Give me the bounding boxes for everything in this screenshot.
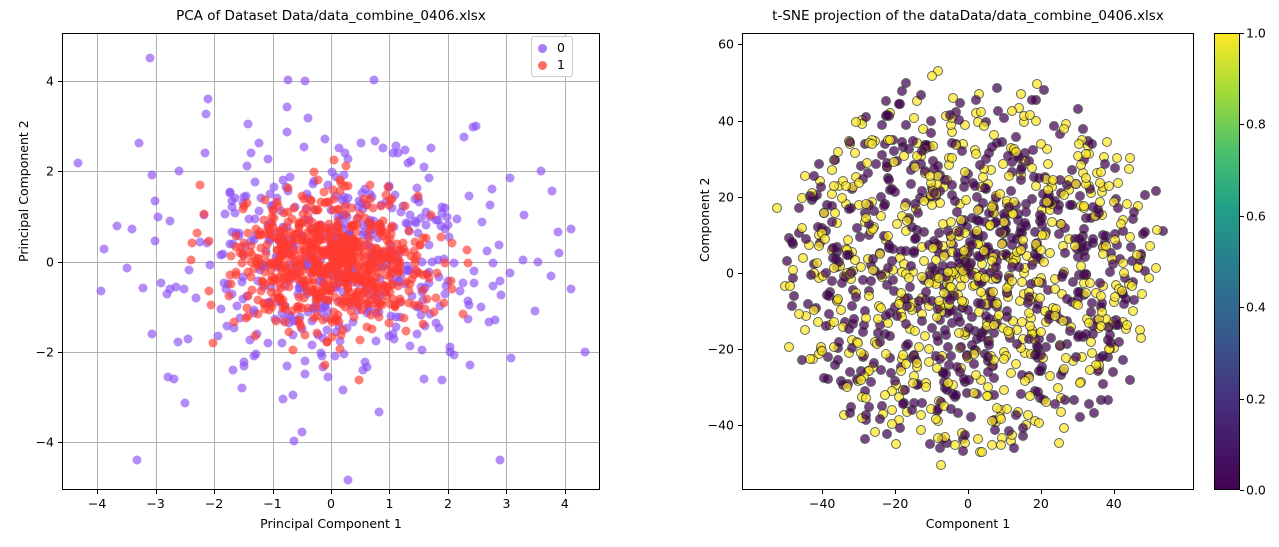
tsne-data-point [1053,205,1063,215]
tsne-data-point [900,385,910,395]
tsne-data-point [1036,139,1046,149]
tsne-data-point [882,429,892,439]
pca-data-point [505,269,514,278]
tsne-data-point [898,399,908,409]
tsne-data-point [1079,224,1089,234]
tsne-data-point [1062,294,1072,304]
tsne-data-point [797,355,807,365]
pca-data-point [323,337,332,346]
pca-data-point [252,349,261,358]
pca-data-point [414,301,423,310]
tsne-data-point [1059,190,1069,200]
tsne-data-point [1048,175,1058,185]
pca-data-point [290,436,299,445]
pca-data-point [507,353,516,362]
tsne-ytick-mark [738,121,742,122]
tsne-data-point [999,354,1009,364]
pca-data-point [422,295,431,304]
tsne-data-point [1137,289,1147,299]
tsne-data-point [817,346,827,356]
tsne-data-point [881,96,891,106]
tsne-data-point [992,403,1002,413]
pca-data-point [313,312,322,321]
tsne-ytick-label: 40 [700,113,734,128]
tsne-data-point [861,393,871,403]
pca-data-point [347,223,356,232]
tsne-data-point [894,299,904,309]
tsne-data-point [975,160,985,170]
pca-data-point [482,247,491,256]
tsne-xtick-label: 0 [964,496,972,511]
tsne-data-point [1110,163,1120,173]
pca-data-point [338,295,347,304]
tsne-data-point [987,416,997,426]
tsne-data-point [1080,252,1090,262]
pca-data-point [429,308,438,317]
pca-data-point [469,266,478,275]
pca-data-point [298,427,307,436]
pca-data-point [533,258,542,267]
pca-data-point [439,298,448,307]
tsne-data-point [902,216,912,226]
pca-data-point [476,303,485,312]
pca-ytick-mark [58,442,62,443]
tsne-data-point [999,385,1009,395]
tsne-data-point [1036,327,1046,337]
tsne-xtick-mark [968,490,969,494]
tsne-data-point [1020,376,1030,386]
tsne-data-point [1001,249,1011,259]
pca-data-point [364,218,373,227]
tsne-data-point [901,359,911,369]
pca-data-point [351,242,360,251]
tsne-data-point [1062,180,1072,190]
colorbar-tick-label: 0.8 [1246,117,1266,132]
pca-data-point [326,243,335,252]
pca-data-point [372,336,381,345]
pca-data-point [360,288,369,297]
pca-data-point [464,259,473,268]
pca-ytick-mark [58,81,62,82]
colorbar-tick-label: 0.4 [1246,300,1266,315]
tsne-data-point [976,287,986,297]
tsne-data-point [958,446,968,456]
tsne-data-point [901,319,911,329]
tsne-data-point [1024,292,1034,302]
tsne-data-point [1102,137,1112,147]
pca-data-point [356,335,365,344]
pca-data-point [417,346,426,355]
pca-data-point [547,271,556,280]
pca-data-point [411,259,420,268]
tsne-data-point [1060,248,1070,258]
tsne-data-point [812,258,822,268]
tsne-ytick-label: −20 [700,342,734,357]
pca-data-point [362,300,371,309]
pca-data-point [321,361,330,370]
pca-data-point [240,251,249,260]
tsne-data-point [931,414,941,424]
tsne-data-point [1118,258,1128,268]
tsne-data-point [1145,241,1155,251]
pca-data-point [338,386,347,395]
tsne-data-point [794,203,804,213]
pca-data-point [369,290,378,299]
tsne-data-point [943,378,953,388]
tsne-data-point [1024,334,1034,344]
pca-data-point [326,260,335,269]
pca-data-point [201,110,210,119]
pca-data-point [295,236,304,245]
tsne-data-point [928,243,938,253]
pca-data-point [425,174,434,183]
tsne-xtick-label: −20 [882,496,908,511]
tsne-data-point [959,374,969,384]
tsne-data-point [989,373,999,383]
pca-data-point [314,228,323,237]
tsne-data-point [828,243,838,253]
tsne-data-point [1119,268,1129,278]
pca-data-point [180,399,189,408]
pca-data-point [123,264,132,273]
tsne-data-point [1054,438,1064,448]
tsne-data-point [1128,214,1138,224]
tsne-data-point [1087,139,1097,149]
tsne-data-point [1043,185,1053,195]
tsne-xtick-mark [822,490,823,494]
pca-data-point [386,269,395,278]
tsne-data-point [952,362,962,372]
tsne-data-point [898,350,908,360]
pca-data-point [231,243,240,252]
pca-xtick-mark [506,490,507,494]
tsne-data-point [800,325,810,335]
tsne-data-point [972,226,982,236]
tsne-data-point [996,440,1006,450]
tsne-data-point [856,375,866,385]
pca-data-point [195,237,204,246]
tsne-data-point [904,273,914,283]
tsne-plot-area[interactable] [742,33,1194,490]
tsne-data-point [996,414,1006,424]
pca-data-point [416,240,425,249]
pca-data-point [242,162,251,171]
tsne-data-point [1128,306,1138,316]
colorbar-tick-mark [1240,124,1244,125]
tsne-data-point [1075,378,1085,388]
tsne-data-point [987,202,997,212]
pca-data-point [96,287,105,296]
tsne-data-point [1046,333,1056,343]
tsne-data-point [1034,277,1044,287]
tsne-data-point [985,220,995,230]
pca-data-point [418,286,427,295]
tsne-xtick-label: 40 [1106,496,1122,511]
tsne-data-point [917,316,927,326]
pca-data-point [284,282,293,291]
tsne-data-point [1045,371,1055,381]
tsne-data-point [909,113,919,123]
tsne-data-point [788,265,798,275]
pca-ytick-mark [58,171,62,172]
pca-data-point [290,250,299,259]
tsne-data-point [887,256,897,266]
tsne-data-point [1075,412,1085,422]
colorbar-tick-mark [1240,399,1244,400]
tsne-data-point [880,390,890,400]
pca-data-point [385,318,394,327]
tsne-data-point [1103,395,1113,405]
tsne-data-point [1140,190,1150,200]
tsne-data-point [945,110,955,120]
tsne-data-point [887,405,897,415]
pca-data-point [166,217,175,226]
pca-data-point [188,239,197,248]
tsne-data-point [916,410,926,420]
tsne-data-point [969,388,979,398]
tsne-data-point [1034,366,1044,376]
pca-data-point [489,282,498,291]
pca-gridline-h [62,442,600,443]
pca-data-point [462,245,471,254]
tsne-data-point [897,137,907,147]
pca-axes [62,33,600,490]
pca-xtick-mark [448,490,449,494]
pca-data-point [438,375,447,384]
legend-item-0[interactable]: 0 [538,41,565,55]
tsne-data-point [1007,276,1017,286]
pca-data-point [221,210,230,219]
tsne-axes [742,33,1194,490]
pca-data-point [405,287,414,296]
pca-data-point [491,316,500,325]
pca-ytick-label: −4 [28,435,54,450]
pca-data-point [288,346,297,355]
pca-data-point [286,173,295,182]
pca-data-point [388,195,397,204]
tsne-data-point [869,206,879,216]
tsne-data-point [983,352,993,362]
tsne-data-point [935,443,945,453]
tsne-data-point [966,412,976,422]
pca-data-point [304,113,313,122]
pca-data-point [268,276,277,285]
tsne-data-point [981,311,991,321]
tsne-data-point [830,360,840,370]
pca-data-point [310,168,319,177]
pca-data-point [362,363,371,372]
tsne-data-point [1082,241,1092,251]
tsne-data-point [855,232,865,242]
tsne-data-point [899,151,909,161]
tsne-data-point [1036,350,1046,360]
pca-data-point [426,210,435,219]
pca-xtick-mark [97,490,98,494]
pca-data-point [254,253,263,262]
pca-data-point [300,356,309,365]
tsne-data-point [933,161,943,171]
tsne-data-point [997,239,1007,249]
tsne-data-point [1006,368,1016,378]
pca-data-point [227,252,236,261]
tsne-data-point [883,231,893,241]
pca-data-point [263,241,272,250]
tsne-data-point [1039,85,1049,95]
tsne-data-point [976,107,986,117]
tsne-data-point [816,182,826,192]
pca-data-point [496,455,505,464]
pca-data-point [229,365,238,374]
tsne-ytick-label: 0 [700,265,734,280]
tsne-data-point [864,291,874,301]
tsne-data-point [881,349,891,359]
tsne-ytick-mark [738,349,742,350]
tsne-data-point [910,326,920,336]
tsne-data-point [960,167,970,177]
pca-data-point [354,375,363,384]
tsne-data-point [1140,227,1150,237]
pca-data-point [342,161,351,170]
tsne-data-point [1007,262,1017,272]
tsne-data-point [1035,210,1045,220]
tsne-data-point [1018,235,1028,245]
pca-data-point [548,186,557,195]
pca-data-point [207,301,216,310]
tsne-data-point [1024,308,1034,318]
tsne-data-point [1073,300,1083,310]
tsne-data-point [882,110,892,120]
pca-data-point [300,293,309,302]
legend-swatch-class-1 [538,61,547,70]
pca-data-point [195,180,204,189]
tsne-data-point [854,178,864,188]
pca-data-point [349,259,358,268]
pca-data-point [401,146,410,155]
pca-data-point [180,284,189,293]
pca-data-point [271,316,280,325]
tsne-data-point [1003,326,1013,336]
tsne-data-point [842,250,852,260]
pca-legend[interactable]: 0 1 [531,36,573,77]
pca-xtick-label: −2 [205,496,223,511]
tsne-data-point [1012,339,1022,349]
tsne-data-point [885,135,895,145]
tsne-data-point [1037,230,1047,240]
pca-data-point [378,232,387,241]
pca-ytick-mark [58,262,62,263]
pca-data-point [407,156,416,165]
tsne-data-point [940,325,950,335]
tsne-data-point [830,208,840,218]
tsne-data-point [1084,318,1094,328]
pca-data-point [322,198,331,207]
pca-data-point [519,211,528,220]
tsne-data-point [870,427,880,437]
tsne-data-point [877,120,887,130]
tsne-data-point [833,294,843,304]
tsne-data-point [980,183,990,193]
tsne-data-point [1073,287,1083,297]
tsne-data-point [992,299,1002,309]
tsne-data-point [1116,219,1126,229]
tsne-data-point [892,219,902,229]
pca-data-point [374,408,383,417]
pca-data-point [174,338,183,347]
pca-data-point [232,302,241,311]
pca-data-point [138,284,147,293]
tsne-data-point [1144,273,1154,283]
tsne-data-point [789,291,799,301]
tsne-data-point [834,337,844,347]
pca-xtick-mark [214,490,215,494]
pca-data-point [426,143,435,152]
tsne-data-point [943,342,953,352]
tsne-data-point [879,201,889,211]
colorbar-tick-mark [1240,33,1244,34]
pca-data-point [301,369,310,378]
tsne-data-point [814,159,824,169]
tsne-data-point [819,208,829,218]
pca-data-point [300,331,309,340]
tsne-data-point [1017,317,1027,327]
tsne-data-point [858,275,868,285]
tsne-data-point [867,139,877,149]
legend-item-1[interactable]: 1 [538,58,565,72]
pca-data-point [419,163,428,172]
tsne-data-point [1056,407,1066,417]
tsne-data-point [1061,353,1071,363]
tsne-data-point [993,270,1003,280]
tsne-data-point [1081,149,1091,159]
tsne-data-point [905,282,915,292]
tsne-data-point [1096,321,1106,331]
pca-data-point [311,289,320,298]
tsne-data-point [800,171,810,181]
tsne-data-point [851,292,861,302]
pca-data-point [412,218,421,227]
pca-data-point [231,232,240,241]
tsne-data-point [1057,272,1067,282]
pca-data-point [277,338,286,347]
tsne-data-point [889,146,899,156]
pca-data-point [264,338,273,347]
pca-data-point [270,183,279,192]
pca-data-point [308,340,317,349]
tsne-data-point [910,234,920,244]
pca-data-point [100,244,109,253]
tsne-data-point [1004,171,1014,181]
pca-data-point [284,207,293,216]
pca-data-point [452,215,461,224]
pca-data-point [246,148,255,157]
pca-data-point [154,212,163,221]
pca-data-point [226,280,235,289]
pca-data-point [422,221,431,230]
tsne-data-point [1043,159,1053,169]
pca-data-point [447,238,456,247]
tsne-data-point [1121,294,1131,304]
tsne-data-point [976,332,986,342]
pca-plot-area[interactable] [62,33,600,490]
tsne-data-point [806,270,816,280]
pca-data-point [436,233,445,242]
tsne-data-point [1113,203,1123,213]
tsne-data-point [1071,352,1081,362]
tsne-data-point [1073,104,1083,114]
tsne-ytick-label: −40 [700,418,734,433]
pca-data-point [419,319,428,328]
tsne-data-point [852,223,862,233]
